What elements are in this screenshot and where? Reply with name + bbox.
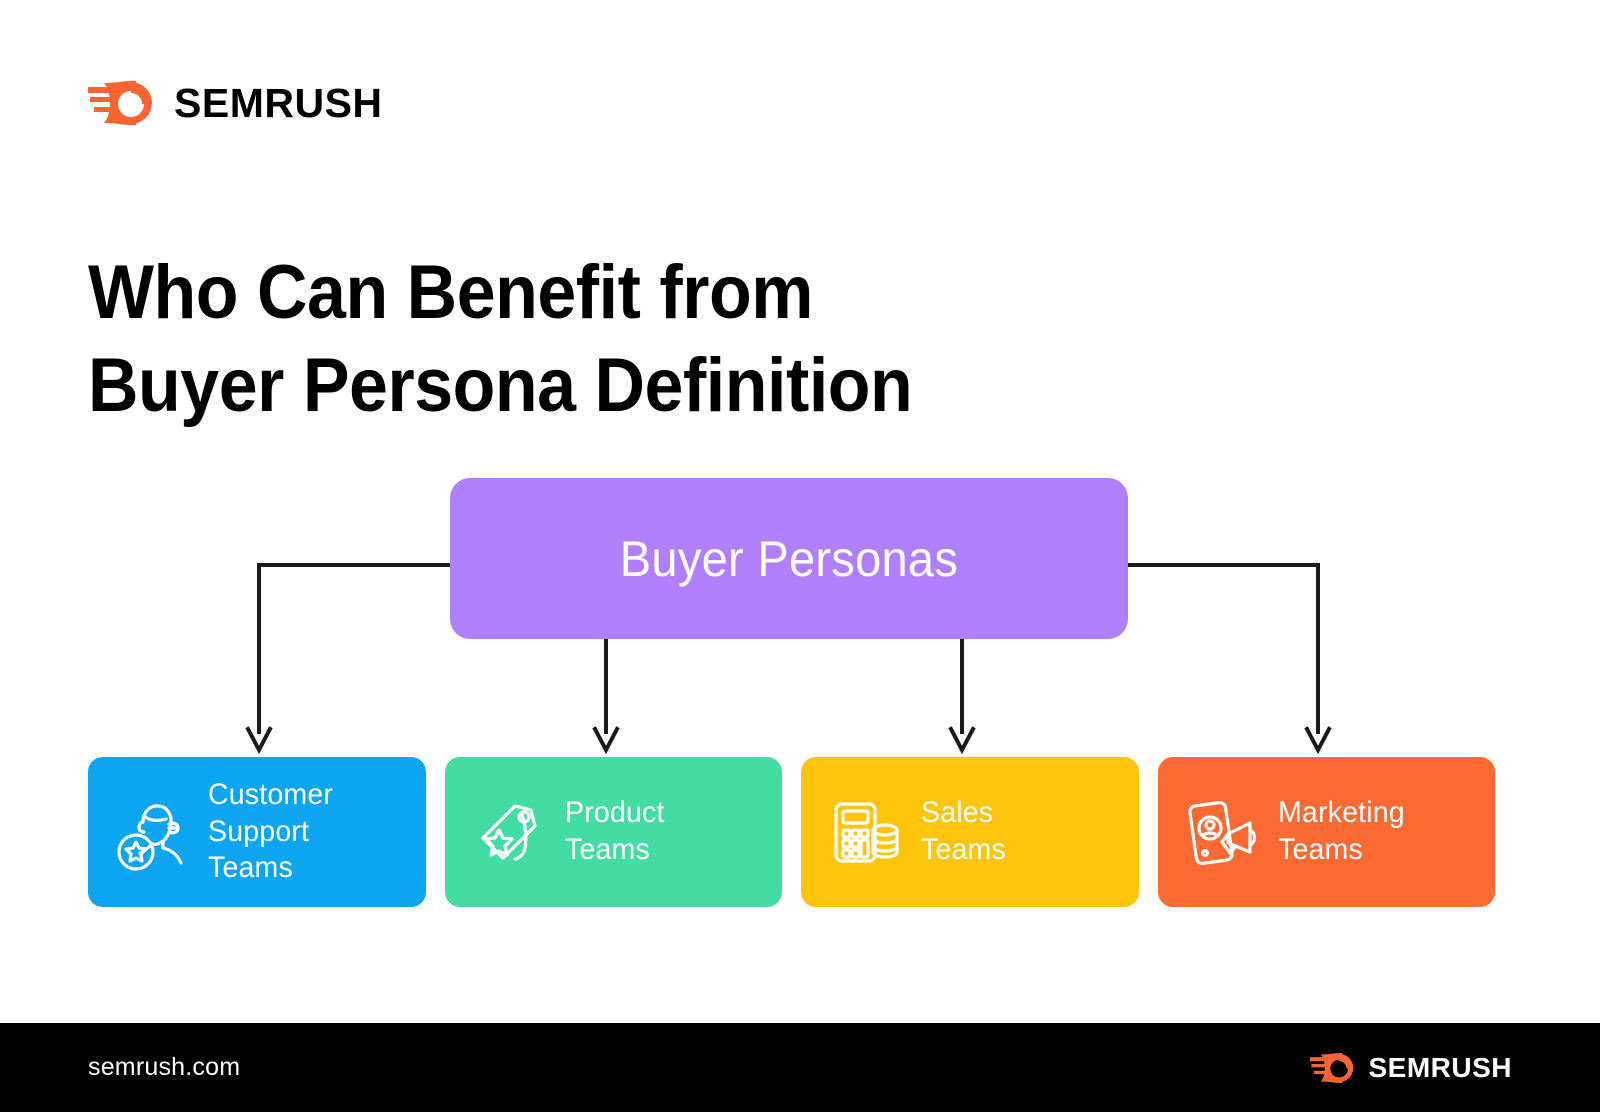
phone-megaphone-icon bbox=[1180, 790, 1264, 874]
headset-agent-star-icon bbox=[110, 790, 194, 874]
card-label-customer-support-teams: Customer Support Teams bbox=[208, 777, 333, 887]
semrush-logo-footer: SEMRUSH bbox=[1310, 1051, 1512, 1085]
card-label-marketing-teams: Marketing Teams bbox=[1278, 795, 1405, 868]
card-marketing-teams[interactable]: Marketing Teams bbox=[1158, 757, 1496, 907]
card-label-line-1: Sales bbox=[921, 795, 1006, 832]
calculator-coins-icon bbox=[823, 790, 907, 874]
footer-url[interactable]: semrush.com bbox=[88, 1053, 240, 1082]
card-label-line-2: Support bbox=[208, 814, 333, 851]
card-label-line-1: Marketing bbox=[1278, 795, 1405, 832]
card-label-line-1: Customer bbox=[208, 777, 333, 814]
root-node-label: Buyer Personas bbox=[620, 534, 958, 584]
root-node-buyer-personas[interactable]: Buyer Personas bbox=[450, 478, 1128, 639]
footer-bar: semrush.com SEMRUSH bbox=[0, 1023, 1600, 1112]
card-label-line-3: Teams bbox=[208, 850, 333, 887]
card-customer-support-teams[interactable]: Customer Support Teams bbox=[88, 757, 426, 907]
card-label-line-2: Teams bbox=[565, 832, 665, 869]
card-label-product-teams: Product Teams bbox=[565, 795, 665, 868]
child-node-list: Customer Support Teams Product bbox=[88, 757, 1495, 907]
card-label-line-1: Product bbox=[565, 795, 665, 832]
card-label-sales-teams: Sales Teams bbox=[921, 795, 1006, 868]
buyer-persona-diagram: Buyer Personas bbox=[0, 0, 1600, 1023]
semrush-comet-icon bbox=[1310, 1051, 1356, 1085]
card-sales-teams[interactable]: Sales Teams bbox=[801, 757, 1139, 907]
infographic-page: SEMRUSH Who Can Benefit from Buyer Perso… bbox=[0, 0, 1600, 1112]
price-tag-star-icon bbox=[467, 790, 551, 874]
footer-brand-wordmark: SEMRUSH bbox=[1368, 1054, 1512, 1082]
card-label-line-2: Teams bbox=[1278, 832, 1405, 869]
card-product-teams[interactable]: Product Teams bbox=[445, 757, 783, 907]
card-label-line-2: Teams bbox=[921, 832, 1006, 869]
